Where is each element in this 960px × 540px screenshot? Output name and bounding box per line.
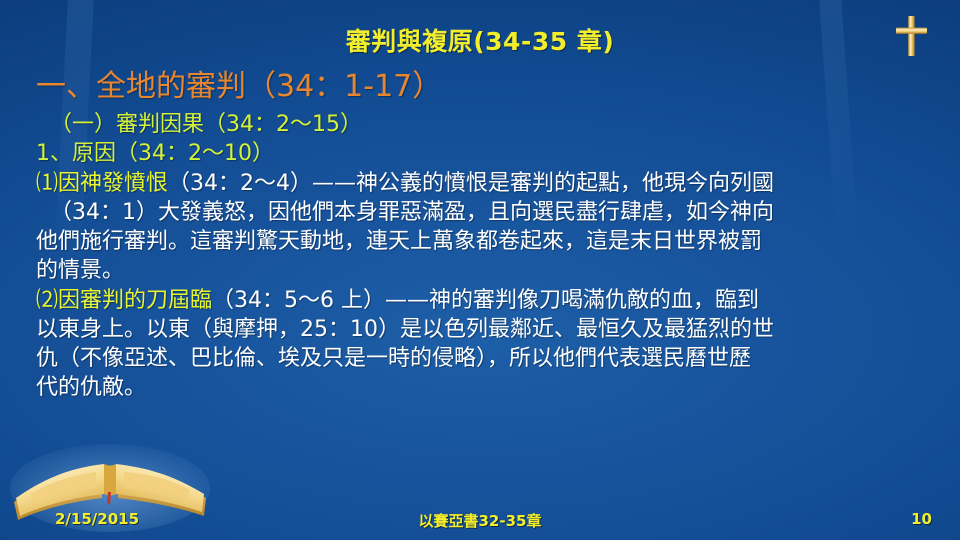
page-title: 審判與複原(34-35 章) [0,22,960,58]
footer-book-ref: 以賽亞書32-35章 [0,510,960,531]
bullet-1-label: ⑴因神發憤恨 [36,171,168,196]
body-line-6: 的情景。 [36,256,942,285]
cross-icon [884,9,938,63]
body-line-9: 仇（不像亞述、巴比倫、埃及只是一時的侵略），所以他們代表選民曆世歷 [36,344,942,373]
body-line-5: 他們施行審判。這審判驚天動地，連天上萬象都卷起來，這是末日世界被罰 [36,227,942,256]
body-line-4: （34：1）大發義怒，因他們本身罪惡滿盈，且向選民盡行肆虐，如今神向 [36,198,942,227]
bullet-2-label: ⑵因審判的刀屆臨 [36,288,212,313]
slide-canvas: 審判與複原(34-35 章) 一 [0,0,960,540]
body-line-2: 1、原因（34：2～10） [36,139,942,168]
bullet-2-text: （34：5～6 上）——神的審判像刀喝滿仇敵的血，臨到 [212,288,759,313]
body-line-1: （一）審判因果（34：2～15） [36,110,942,139]
body-line-8: 以東身上。以東（與摩押，25：10）是以色列最鄰近、最恒久及最猛烈的世 [36,315,942,344]
body-line-6-text: 的情景。 [36,258,124,283]
body-line-3: ⑴因神發憤恨（34：2～4）——神公義的憤恨是審判的起點，他現今向列國 [36,169,942,198]
body-line-7: ⑵因審判的刀屆臨（34：5～6 上）——神的審判像刀喝滿仇敵的血，臨到 [36,286,942,315]
footer-page-number: 10 [911,510,932,528]
body-line-8-text: 以東身上。以東（與摩押，25：10）是以色列最鄰近、最恒久及最猛烈的世 [36,317,774,342]
body-line-10-text: 代的仇敵。 [36,375,146,400]
body-line-9-text: 仇（不像亞述、巴比倫、埃及只是一時的侵略），所以他們代表選民曆世歷 [36,346,751,371]
slide-footer: 2/15/2015 以賽亞書32-35章 10 [0,510,960,536]
body-line-2-text: 1、原因（34：2～10） [36,141,274,166]
body-line-5-text: 他們施行審判。這審判驚天動地，連天上萬象都卷起來，這是末日世界被罰 [36,229,762,254]
bullet-1-text: （34：2～4）——神公義的憤恨是審判的起點，他現今向列國 [168,171,774,196]
section-heading: 一、全地的審判（34：1-17） [36,70,942,103]
body-line-10: 代的仇敵。 [36,373,942,402]
body-line-1-text: （一）審判因果（34：2～15） [50,112,362,137]
slide-body: 一、全地的審判（34：1-17） （一）審判因果（34：2～15） 1、原因（3… [36,70,942,403]
body-line-4-text: （34：1）大發義怒，因他們本身罪惡滿盈，且向選民盡行肆虐，如今神向 [50,200,774,225]
